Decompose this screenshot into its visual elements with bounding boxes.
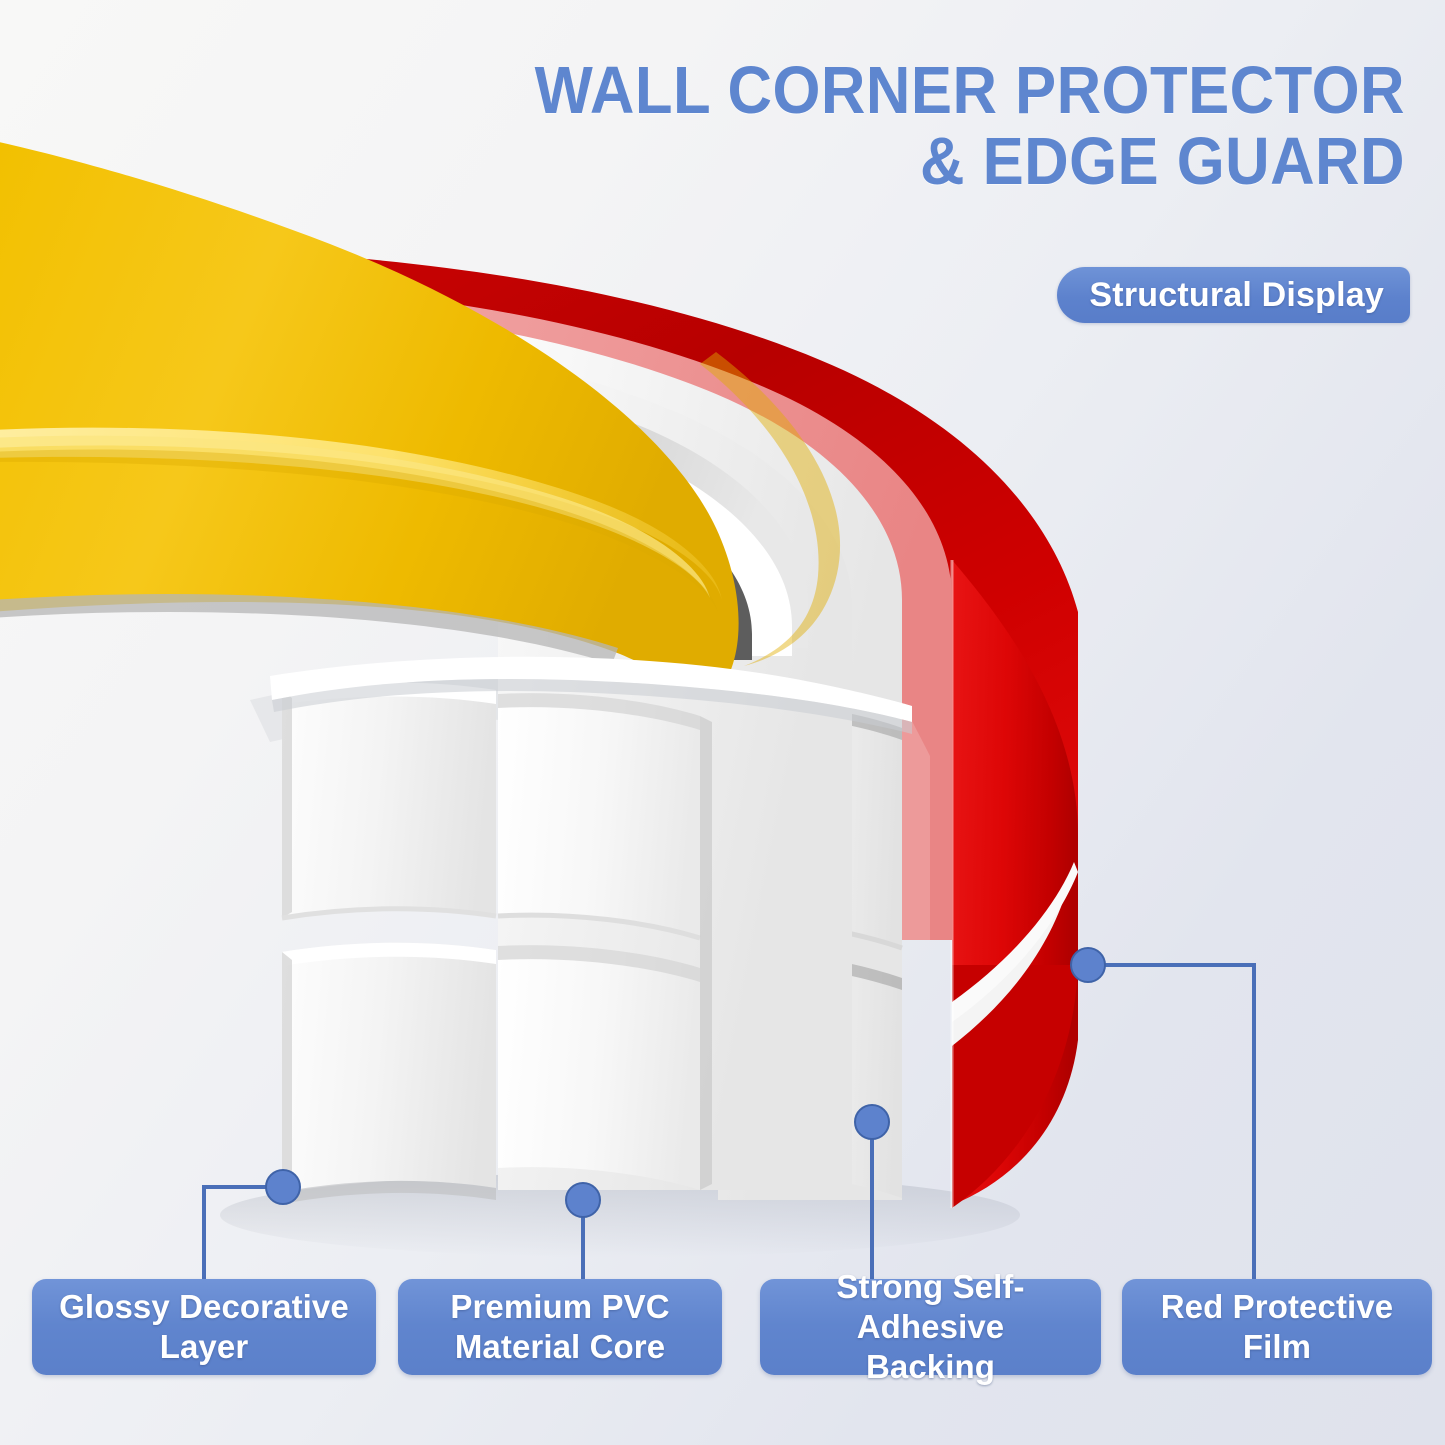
callout-label-line-2: Material Core [455,1328,665,1365]
product-illustration [0,0,1445,1445]
layer-glossy-decorative [0,138,892,688]
callout-label-text: Red Protective Film [1132,1287,1422,1368]
callout-label-line-2: Backing [866,1348,995,1385]
callout-label-strong-self-adhesive-backing: Strong Self-Adhesive Backing [760,1279,1101,1375]
callout-label-line-1: Strong Self-Adhesive [836,1268,1024,1345]
callout-label-text: Premium PVC Material Core [450,1287,669,1368]
panels-decorative-front [282,683,496,1205]
structural-display-badge-label: Structural Display [1089,276,1384,315]
callout-label-text: Strong Self-Adhesive Backing [770,1267,1091,1388]
callout-label-premium-pvc-material-core: Premium PVC Material Core [398,1279,722,1375]
callout-label-line-1: Premium PVC [450,1288,669,1325]
callout-label-glossy-decorative-layer: Glossy Decorative Layer [32,1279,376,1375]
structural-display-badge: Structural Display [1057,267,1410,323]
page-title-line-2: & EDGE GUARD [319,126,1405,197]
product-infographic: WALL CORNER PROTECTOR & EDGE GUARD Struc… [0,0,1445,1445]
page-title: WALL CORNER PROTECTOR & EDGE GUARD [225,55,1405,197]
callout-label-text: Glossy Decorative Layer [59,1287,349,1368]
callout-label-line-1: Red Protective Film [1161,1288,1393,1365]
callout-label-line-1: Glossy Decorative [59,1288,349,1325]
callout-label-red-protective-film: Red Protective Film [1122,1279,1432,1375]
page-title-line-1: WALL CORNER PROTECTOR [319,55,1405,126]
callout-label-line-2: Layer [160,1328,249,1365]
